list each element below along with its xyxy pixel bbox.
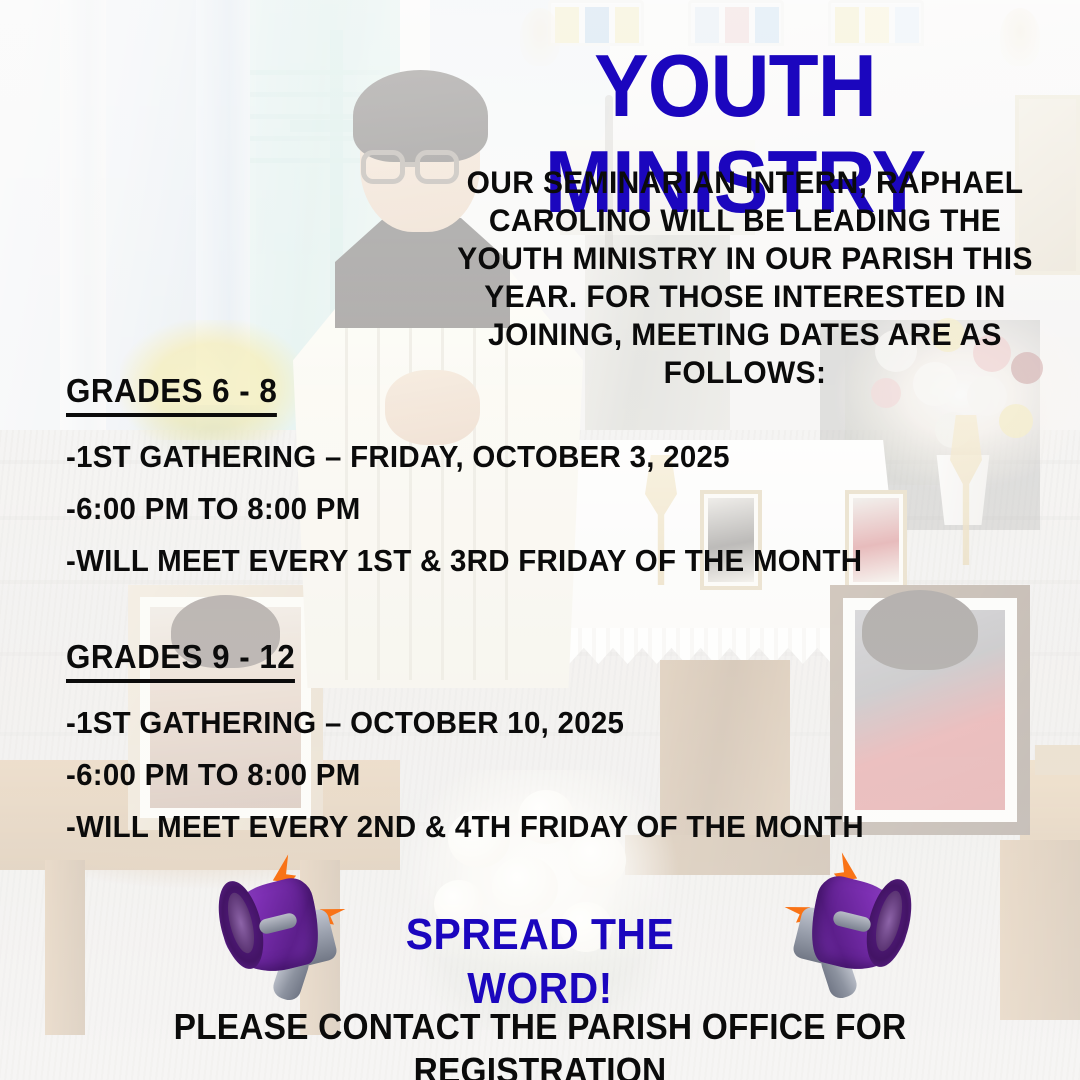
list-item: -6:00 PM TO 8:00 PM: [66, 483, 978, 535]
footer-text: PLEASE CONTACT THE PARISH OFFICE FOR REG…: [75, 1005, 1005, 1080]
schedule-section-grades-6-8: GRADES 6 - 8 -1ST GATHERING – FRIDAY, OC…: [66, 372, 1026, 587]
schedule-section-grades-9-12: GRADES 9 - 12 -1ST GATHERING – OCTOBER 1…: [66, 638, 1026, 853]
schedule-list: -1ST GATHERING – FRIDAY, OCTOBER 3, 2025…: [66, 431, 1026, 587]
list-item: -6:00 PM TO 8:00 PM: [66, 749, 978, 801]
megaphone-icon: [205, 860, 345, 990]
megaphone-icon: [785, 858, 925, 988]
call-to-action-text: SPREAD THE WORD!: [345, 908, 736, 1016]
list-item: -1ST GATHERING – FRIDAY, OCTOBER 3, 2025: [66, 431, 978, 483]
list-item: -WILL MEET EVERY 1ST & 3RD FRIDAY OF THE…: [66, 535, 978, 587]
poster-canvas: YOUTH MINISTRY OUR SEMINARIAN INTERN, RA…: [0, 0, 1080, 1080]
poster-content: YOUTH MINISTRY OUR SEMINARIAN INTERN, RA…: [0, 0, 1080, 1080]
intro-paragraph: OUR SEMINARIAN INTERN, RAPHAEL CAROLINO …: [446, 163, 1045, 391]
list-item: -1ST GATHERING – OCTOBER 10, 2025: [66, 697, 978, 749]
list-item: -WILL MEET EVERY 2ND & 4TH FRIDAY OF THE…: [66, 801, 978, 853]
section-heading: GRADES 9 - 12: [66, 638, 295, 683]
section-heading: GRADES 6 - 8: [66, 372, 277, 417]
schedule-list: -1ST GATHERING – OCTOBER 10, 2025 -6:00 …: [66, 697, 1026, 853]
